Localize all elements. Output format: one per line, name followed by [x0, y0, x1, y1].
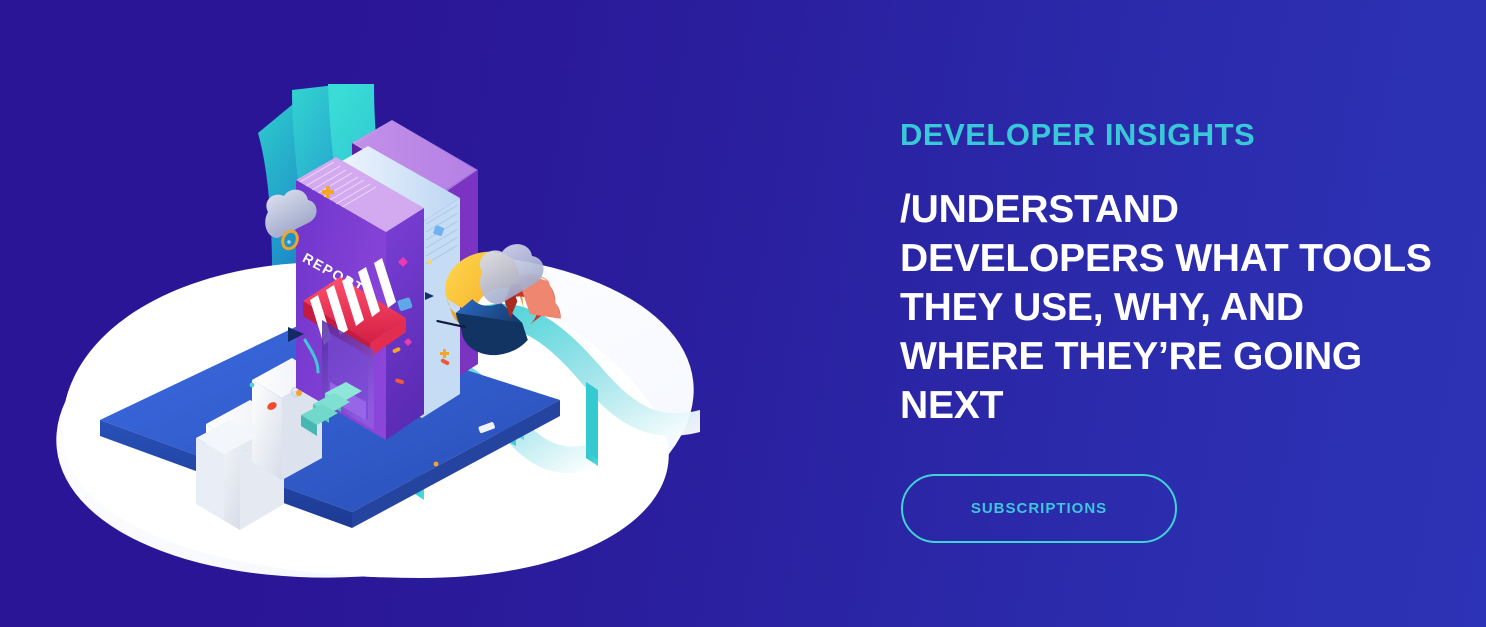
subscriptions-button[interactable]: SUBSCRIPTIONS: [901, 474, 1177, 543]
eyebrow-text: DEVELOPER INSIGHTS: [900, 119, 1255, 150]
page-title: /UNDERSTAND DEVELOPERS WHAT TOOLS THEY U…: [900, 185, 1445, 430]
developer-insights-banner: REPORTS: [0, 0, 1486, 627]
hero-illustration: REPORTS: [0, 0, 760, 627]
copy-column: DEVELOPER INSIGHTS /UNDERSTAND DEVELOPER…: [900, 0, 1460, 627]
